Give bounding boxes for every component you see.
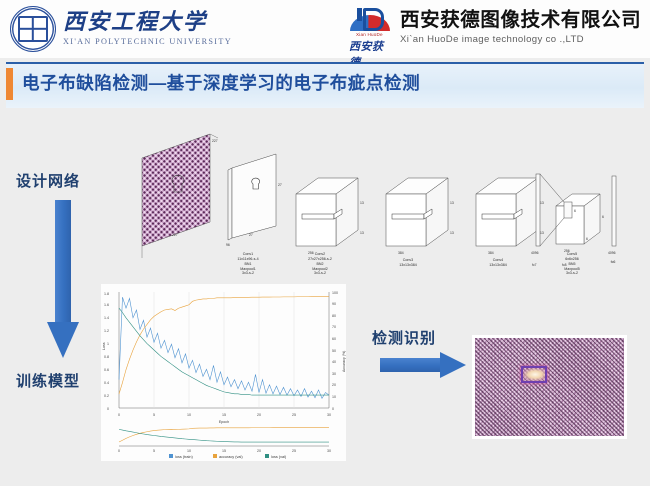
title-accent-bar bbox=[6, 68, 13, 100]
svg-text:25: 25 bbox=[292, 449, 296, 453]
svg-text:13: 13 bbox=[450, 201, 454, 205]
svg-text:6: 6 bbox=[574, 209, 576, 213]
svg-text:20: 20 bbox=[332, 383, 336, 387]
svg-text:384: 384 bbox=[398, 251, 404, 255]
legend-swatch-loss-train bbox=[169, 454, 173, 458]
svg-text:10: 10 bbox=[187, 449, 191, 453]
svg-text:70: 70 bbox=[332, 325, 336, 329]
cnn-layer-conv3-cube: 13 13 384 bbox=[386, 178, 454, 255]
svg-text:20: 20 bbox=[257, 449, 261, 453]
legend-swatch-loss-val bbox=[265, 454, 269, 458]
cnn-fc6-label: fc6 bbox=[602, 260, 624, 265]
svg-text:10: 10 bbox=[332, 395, 336, 399]
svg-text:227: 227 bbox=[212, 139, 218, 143]
cnn-caption-conv2: Conv2 27x27x256-s-2 BN2 Maxpool2 3x3-s-2 bbox=[288, 252, 352, 276]
svg-text:60: 60 bbox=[332, 337, 336, 341]
svg-text:0: 0 bbox=[118, 413, 120, 417]
company-logo-en: Xian HuoDe bbox=[356, 32, 383, 37]
svg-text:1.4: 1.4 bbox=[104, 316, 109, 320]
svg-text:40: 40 bbox=[332, 360, 336, 364]
svg-text:0.2: 0.2 bbox=[104, 394, 109, 398]
svg-text:6: 6 bbox=[602, 215, 604, 219]
svg-text:27: 27 bbox=[278, 183, 282, 187]
svg-text:0: 0 bbox=[107, 407, 109, 411]
svg-text:0.6: 0.6 bbox=[104, 368, 109, 372]
cnn-fc7-label: fc7 bbox=[532, 263, 537, 267]
university-name-block: 西安工程大学 XI'AN POLYTECHNIC UNIVERSITY bbox=[63, 11, 232, 46]
university-name-en: XI'AN POLYTECHNIC UNIVERSITY bbox=[63, 38, 232, 46]
svg-text:13: 13 bbox=[360, 231, 364, 235]
legend-swatch-accuracy-val bbox=[213, 454, 217, 458]
svg-text:4096: 4096 bbox=[608, 251, 616, 255]
fabric-texture bbox=[475, 338, 624, 436]
svg-text:0.8: 0.8 bbox=[104, 355, 109, 359]
svg-text:1: 1 bbox=[107, 342, 109, 346]
training-curves-chart: 0 0.2 0.4 0.6 0.8 1 1.2 1.4 1.6 1.8 Loss… bbox=[101, 284, 346, 461]
flow-arrow-down-icon bbox=[47, 200, 79, 360]
university-branding: 西安工程大学 XI'AN POLYTECHNIC UNIVERSITY bbox=[10, 6, 232, 52]
svg-text:1.8: 1.8 bbox=[104, 292, 109, 296]
company-name-cn: 西安获德图像技术有限公司 bbox=[400, 11, 641, 31]
svg-text:13: 13 bbox=[450, 231, 454, 235]
svg-text:15: 15 bbox=[222, 449, 226, 453]
training-chart-svg: 0 0.2 0.4 0.6 0.8 1 1.2 1.4 1.6 1.8 Loss… bbox=[101, 284, 346, 461]
flow-arrow-right-icon bbox=[380, 352, 466, 378]
legend-label-loss-train: loss (train) bbox=[175, 455, 193, 459]
svg-text:20: 20 bbox=[257, 413, 261, 417]
chart-y2label: Accuracy (%) bbox=[342, 351, 346, 372]
svg-text:0.4: 0.4 bbox=[104, 381, 109, 385]
cnn-caption-conv3: Conv3 13x13x384 bbox=[378, 258, 438, 268]
slide-root: 西安工程大学 XI'AN POLYTECHNIC UNIVERSITY Xian… bbox=[0, 0, 650, 486]
cnn-caption-conv5: Conv5 6x6x256 BN5 Maxpool5 3x3-s-2 bbox=[542, 252, 602, 276]
flow-label-design-network: 设计网络 bbox=[16, 170, 80, 191]
university-name-cn: 西安工程大学 bbox=[63, 11, 232, 33]
cnn-layer-conv1-plane: 27 27 96 bbox=[226, 154, 282, 247]
svg-text:1.6: 1.6 bbox=[104, 303, 109, 307]
svg-text:0: 0 bbox=[332, 407, 334, 411]
chart-xlabel: Epoch bbox=[219, 420, 229, 424]
cnn-layer-fc8-output: 6 bbox=[540, 174, 576, 246]
svg-text:96: 96 bbox=[226, 243, 230, 247]
chart-ylabel: Loss bbox=[102, 342, 106, 350]
svg-text:13: 13 bbox=[360, 201, 364, 205]
svg-text:4096: 4096 bbox=[531, 251, 539, 255]
legend-label-accuracy-val: accuracy (val) bbox=[219, 455, 243, 459]
svg-text:30: 30 bbox=[332, 372, 336, 376]
cnn-layer-conv2-cube: 13 13 256 bbox=[296, 178, 364, 255]
huode-company-logo-icon: Xian HuoDe 西安获德 bbox=[348, 5, 394, 51]
cnn-layer-fc7-bar: 4096 bbox=[531, 174, 540, 255]
page-title: 电子布缺陷检测—基于深度学习的电子布疵点检测 bbox=[22, 70, 420, 95]
cnn-input-plane: 227 227 bbox=[142, 134, 218, 258]
svg-text:30: 30 bbox=[327, 413, 331, 417]
cnn-caption-conv1: Conv1 11x11x96-s-4 BN1 Maxpool1 3x3-s-2 bbox=[218, 252, 278, 276]
svg-text:100: 100 bbox=[332, 291, 338, 295]
svg-text:5: 5 bbox=[153, 449, 155, 453]
svg-text:25: 25 bbox=[292, 413, 296, 417]
cnn-caption-conv4: Conv4 13x13x384 bbox=[468, 258, 528, 268]
svg-text:5: 5 bbox=[153, 413, 155, 417]
svg-text:80: 80 bbox=[332, 314, 336, 318]
cnn-architecture-diagram: 227 227 27 27 96 13 13 bbox=[136, 126, 636, 276]
svg-text:27: 27 bbox=[249, 233, 253, 237]
cnn-layer-fc6-bar: 4096 bbox=[608, 176, 616, 255]
flow-label-train-model: 训练模型 bbox=[16, 370, 80, 391]
detection-result-image bbox=[472, 335, 627, 439]
flow-label-detect-recognize: 检测识别 bbox=[372, 327, 436, 348]
svg-text:1.2: 1.2 bbox=[104, 329, 109, 333]
company-branding: Xian HuoDe 西安获德 西安获德图像技术有限公司 Xi`an HuoDe… bbox=[348, 5, 641, 51]
svg-text:10: 10 bbox=[187, 413, 191, 417]
defect-bounding-box bbox=[521, 366, 547, 383]
svg-text:0: 0 bbox=[118, 449, 120, 453]
slide-header: 西安工程大学 XI'AN POLYTECHNIC UNIVERSITY Xian… bbox=[0, 0, 650, 58]
svg-text:90: 90 bbox=[332, 302, 336, 306]
svg-text:384: 384 bbox=[488, 251, 494, 255]
company-name-en: Xi`an HuoDe image technology co .,LTD bbox=[400, 35, 641, 45]
svg-text:227: 227 bbox=[172, 233, 178, 237]
svg-text:15: 15 bbox=[222, 413, 226, 417]
university-seal-icon bbox=[10, 6, 56, 52]
legend-label-loss-val: loss (val) bbox=[271, 455, 287, 459]
company-name-block: 西安获德图像技术有限公司 Xi`an HuoDe image technolog… bbox=[400, 11, 641, 45]
svg-text:30: 30 bbox=[327, 449, 331, 453]
svg-text:50: 50 bbox=[332, 349, 336, 353]
